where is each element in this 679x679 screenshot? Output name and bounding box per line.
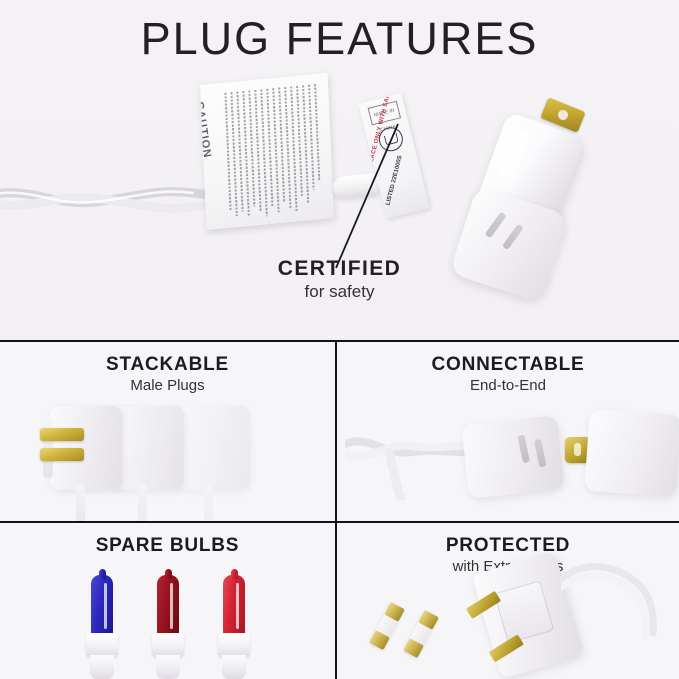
panel-connectable-head: CONNECTABLE End-to-End xyxy=(337,342,679,394)
panel-protected: PROTECTED with Extra Fuses xyxy=(337,523,679,679)
panel-spare-bulbs: SPARE BULBS xyxy=(0,523,335,679)
panel-subtitle: End-to-End xyxy=(337,377,679,394)
panel-title: CONNECTABLE xyxy=(337,355,679,376)
dark-red-bulb-icon xyxy=(150,575,186,679)
fuse-icon xyxy=(403,610,439,658)
brass-prong-icon xyxy=(40,428,84,466)
certified-callout: CERTIFIED for safety xyxy=(0,258,679,302)
stacked-male-plugs-icon xyxy=(38,400,308,521)
panel-spare-bulbs-head: SPARE BULBS xyxy=(0,523,335,557)
panel-connectable: CONNECTABLE End-to-End xyxy=(337,342,679,521)
caution-heading: CAUTION xyxy=(200,101,213,160)
callout-leader-line xyxy=(330,120,332,270)
caution-text-lines xyxy=(224,84,325,221)
plug-features-infographic: PLUG FEATURES CAUTION xyxy=(0,0,679,679)
red-bulb-icon xyxy=(216,575,252,679)
male-plug-icon xyxy=(584,409,679,497)
panel-stackable-head: STACKABLE Male Plugs xyxy=(0,342,335,394)
connector-cord-icon xyxy=(345,430,480,500)
fuse-access-door xyxy=(494,580,554,643)
page-title: PLUG FEATURES xyxy=(0,16,679,61)
spare-bulbs-icon xyxy=(84,575,264,679)
callout-title: CERTIFIED xyxy=(0,258,679,280)
fuse-plug-cord-icon xyxy=(561,549,661,639)
female-socket-icon xyxy=(461,415,564,499)
callout-subtitle: for safety xyxy=(0,282,679,302)
panel-subtitle: Male Plugs xyxy=(0,377,335,394)
panel-title: STACKABLE xyxy=(0,355,335,376)
fuse-icon xyxy=(369,602,405,650)
caution-label-tag: CAUTION xyxy=(200,73,334,230)
panel-title: SPARE BULBS xyxy=(0,536,335,557)
hero-section: PLUG FEATURES CAUTION xyxy=(0,0,679,340)
panel-stackable: STACKABLE Male Plugs xyxy=(0,342,335,521)
blue-bulb-icon xyxy=(84,575,120,679)
